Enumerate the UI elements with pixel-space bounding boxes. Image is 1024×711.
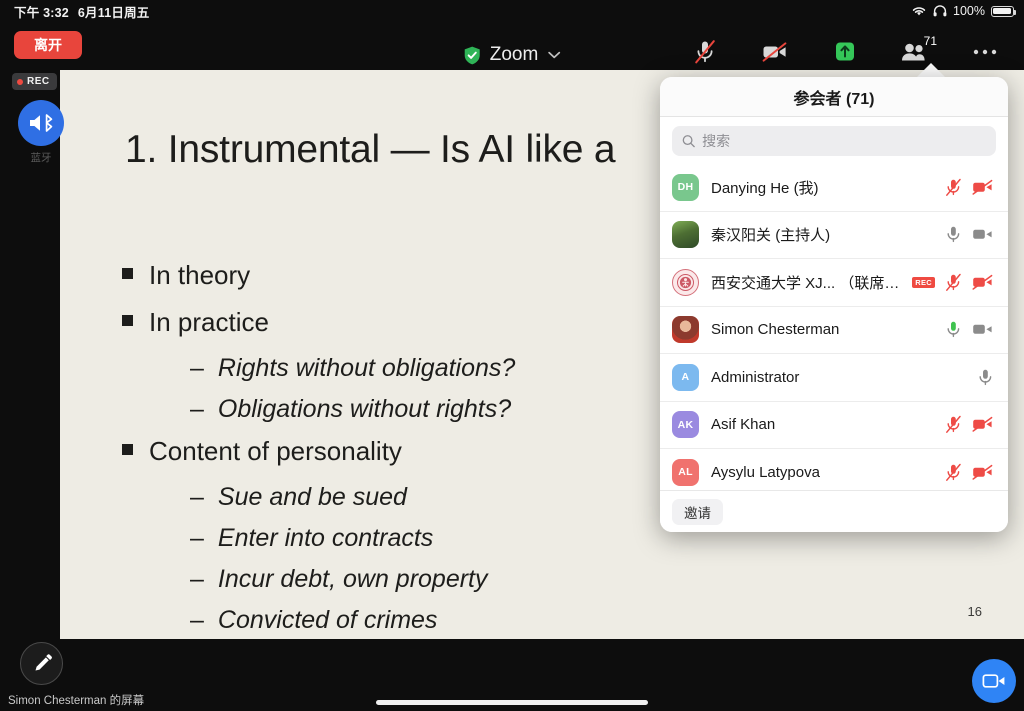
avatar: A — [672, 364, 699, 391]
participant-name: Aysylu Latypova — [711, 464, 937, 481]
ios-status-bar: 下午 3:32 6月11日周五 100% — [0, 0, 1024, 22]
microphone-active-icon[interactable] — [945, 320, 962, 339]
wifi-icon — [911, 5, 927, 17]
avatar-initials: AL — [678, 466, 693, 478]
bullet-dash-icon: – — [190, 524, 204, 553]
slide-bullet-level2: – Incur debt, own property — [190, 565, 762, 594]
bullet-square-icon — [122, 268, 133, 279]
bullet-square-icon — [122, 315, 133, 326]
avatar-initials: DH — [678, 181, 694, 193]
participant-row[interactable]: 秦汉阳关 (主持人) — [660, 212, 1008, 260]
microphone-muted-icon — [693, 38, 717, 65]
chevron-down-icon — [547, 51, 560, 59]
bullet-dash-icon: – — [190, 354, 204, 383]
participant-role: (主持人) — [775, 227, 830, 244]
zoom-meeting-screen: 下午 3:32 6月11日周五 100% 离开 Zo — [0, 0, 1024, 711]
video-off-icon — [761, 38, 789, 65]
bullet-dash-icon: – — [190, 483, 204, 512]
participant-row[interactable]: A Administrator — [660, 354, 1008, 402]
battery-icon — [991, 6, 1014, 17]
home-indicator — [376, 700, 648, 705]
speaker-bluetooth-icon — [27, 111, 55, 135]
participant-name: Asif Khan — [711, 416, 937, 433]
participant-name: Administrator — [711, 369, 969, 386]
participant-state — [945, 225, 994, 244]
avatar-initials: AK — [678, 419, 694, 431]
slide-bullet-text: Content of personality — [149, 436, 402, 467]
panel-caret — [916, 63, 946, 78]
leave-meeting-button[interactable]: 离开 — [14, 31, 82, 59]
video-off-icon[interactable] — [972, 179, 994, 196]
status-time: 下午 3:32 — [14, 2, 69, 21]
participant-name-text: Danying He — [711, 180, 789, 197]
status-bar-left: 下午 3:32 6月11日周五 — [14, 2, 149, 21]
share-screen-icon — [832, 38, 858, 65]
participant-role: (我) — [794, 180, 819, 197]
participant-name-text: Simon Chesterman — [711, 321, 839, 338]
record-dot-icon — [17, 79, 23, 85]
recording-indicator[interactable]: REC — [12, 73, 57, 90]
avatar — [672, 269, 699, 296]
status-bar-right: 100% — [911, 4, 1014, 18]
slide-bullet-text: Rights without obligations? — [218, 354, 515, 383]
audio-output-label: 蓝牙 — [18, 150, 64, 165]
participants-panel: 参会者 (71) DH Danying He (我) — [660, 77, 1008, 532]
status-date: 6月11日周五 — [78, 2, 150, 21]
video-camera-icon[interactable] — [972, 226, 994, 243]
participant-state — [945, 415, 994, 434]
participant-name: Simon Chesterman — [711, 321, 937, 338]
participant-name: 秦汉阳关 (主持人) — [711, 224, 937, 245]
microphone-muted-icon[interactable] — [945, 463, 962, 482]
microphone-muted-icon[interactable] — [945, 273, 962, 292]
participant-row[interactable]: AK Asif Khan — [660, 402, 1008, 450]
meeting-title-text: Zoom — [490, 44, 539, 66]
slide-page-number: 16 — [968, 604, 982, 619]
battery-percent: 100% — [953, 4, 985, 18]
bullet-dash-icon: – — [190, 606, 204, 635]
bullet-dash-icon: – — [190, 565, 204, 594]
slide-bullet-text: In theory — [149, 260, 250, 291]
participant-state — [945, 178, 994, 197]
slide-bullet-text: Convicted of crimes — [218, 606, 438, 635]
participants-panel-title: 参会者 (71) — [660, 77, 1008, 117]
logo-xjtu-icon — [676, 273, 695, 292]
participants-search-wrap — [660, 117, 1008, 164]
participant-state — [977, 368, 994, 387]
participant-name-text: Asif Khan — [711, 416, 775, 433]
slide-bullet-text: Incur debt, own property — [218, 565, 488, 594]
participants-list[interactable]: DH Danying He (我) — [660, 164, 1008, 490]
participant-row[interactable]: DH Danying He (我) — [660, 164, 1008, 212]
participant-name-text: Aysylu Latypova — [711, 464, 820, 481]
pencil-icon — [31, 653, 53, 675]
microphone-icon[interactable] — [977, 368, 994, 387]
avatar — [672, 221, 699, 248]
video-camera-icon[interactable] — [972, 321, 994, 338]
participant-name-text: Administrator — [711, 369, 799, 386]
slide-bullet-text: In practice — [149, 307, 269, 338]
participant-role: （联席主持人） — [839, 275, 904, 292]
video-off-icon[interactable] — [972, 464, 994, 481]
participant-name: 西安交通大学 XJ... （联席主持人） — [711, 272, 904, 293]
search-input[interactable] — [702, 133, 986, 149]
participant-state — [945, 463, 994, 482]
audio-output-button[interactable] — [18, 100, 64, 146]
participant-name: Danying He (我) — [711, 177, 937, 198]
video-off-icon[interactable] — [972, 274, 994, 291]
participants-count-badge: 71 — [924, 34, 937, 48]
participant-row[interactable]: AL Aysylu Latypova — [660, 449, 1008, 490]
avatar: AL — [672, 459, 699, 486]
avatar-initials: A — [682, 371, 690, 383]
avatar — [672, 316, 699, 343]
participant-state — [945, 320, 994, 339]
search-box[interactable] — [672, 126, 996, 156]
meeting-title-group[interactable]: Zoom — [464, 44, 561, 66]
search-icon — [682, 134, 695, 148]
shield-check-icon — [464, 46, 481, 65]
bullet-dash-icon: – — [190, 395, 204, 424]
video-camera-icon — [982, 672, 1006, 690]
participant-row[interactable]: 西安交通大学 XJ... （联席主持人） REC — [660, 259, 1008, 307]
invite-button[interactable]: 邀请 — [672, 499, 723, 525]
microphone-muted-icon[interactable] — [945, 178, 962, 197]
participant-name-text: 西安交通大学 XJ... — [711, 275, 835, 292]
microphone-muted-icon[interactable] — [945, 415, 962, 434]
participant-state: REC — [912, 273, 994, 292]
recording-badge: REC — [912, 277, 935, 288]
ellipsis-icon — [972, 38, 998, 65]
headphones-icon — [933, 5, 947, 17]
avatar: AK — [672, 411, 699, 438]
meeting-top-bar: 离开 Zoom 解除静音 — [0, 22, 1024, 70]
annotate-button[interactable] — [20, 642, 63, 685]
video-off-icon[interactable] — [972, 416, 994, 433]
slide-bullet-text: Enter into contracts — [218, 524, 433, 553]
participants-panel-footer: 邀请 — [660, 490, 1008, 532]
avatar: DH — [672, 174, 699, 201]
slide-title: 1. Instrumental — Is AI like a — [125, 128, 615, 172]
recording-label: REC — [27, 76, 50, 87]
participant-name-text: 秦汉阳关 — [711, 227, 771, 244]
slide-bullet-level2: – Convicted of crimes — [190, 606, 762, 635]
microphone-icon[interactable] — [945, 225, 962, 244]
shared-screen-owner-label: Simon Chesterman 的屏幕 — [8, 692, 144, 708]
slide-bullet-text: Sue and be sued — [218, 483, 407, 512]
bullet-square-icon — [122, 444, 133, 455]
participant-row[interactable]: Simon Chesterman — [660, 307, 1008, 355]
slide-bullet-text: Obligations without rights? — [218, 395, 511, 424]
self-video-button[interactable] — [972, 659, 1016, 703]
